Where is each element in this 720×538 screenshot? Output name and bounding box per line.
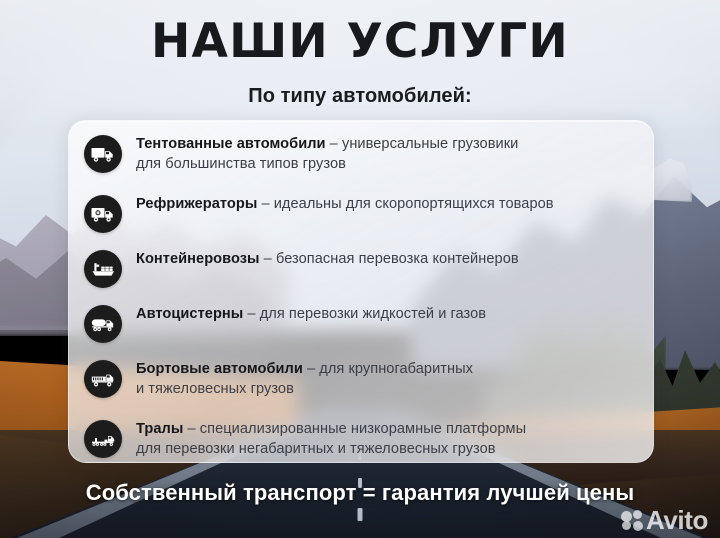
avito-watermark: Avito — [621, 507, 708, 533]
refrigerated-truck-icon — [84, 195, 122, 233]
service-desc: безопасная перевозка контейнеров — [276, 251, 519, 267]
list-item-text: Рефрижераторы – идеальны для скоропортящ… — [136, 193, 554, 214]
list-item: Тентованные автомобили – универсальные г… — [84, 133, 636, 190]
service-dash: – — [183, 421, 199, 437]
service-desc: для перевозки жидкостей и газов — [260, 306, 486, 322]
footer-tagline: Собственный транспорт = гарантия лучшей … — [0, 480, 720, 506]
service-dash: – — [326, 136, 342, 152]
service-dash: – — [257, 196, 273, 212]
lowboy-trailer-icon — [84, 420, 122, 458]
service-desc: для крупногабаритных — [319, 361, 473, 377]
list-item: Автоцистерны – для перевозки жидкостей и… — [84, 303, 636, 355]
service-desc-2: для большинства типов грузов — [136, 154, 518, 174]
tanker-truck-icon — [84, 305, 122, 343]
promo-banner: НАШИ УСЛУГИ По типу автомобилей: — [0, 0, 720, 538]
avito-dots-logo — [621, 510, 644, 531]
avito-wordmark: Avito — [646, 507, 708, 533]
list-item-text: Автоцистерны – для перевозки жидкостей и… — [136, 303, 486, 324]
service-desc: специализированные низкорамные платформы — [200, 421, 526, 437]
list-item: Тралы – специализированные низкорамные п… — [84, 418, 636, 475]
service-name: Контейнеровозы — [136, 251, 260, 267]
service-dash: – — [303, 361, 319, 377]
services-list: Тентованные автомобили – универсальные г… — [68, 120, 654, 463]
flatbed-truck-icon — [84, 360, 122, 398]
list-item: Рефрижераторы – идеальны для скоропортящ… — [84, 193, 636, 245]
service-name: Тралы — [136, 421, 183, 437]
service-dash: – — [260, 251, 276, 267]
list-item: Бортовые автомобили – для крупногабаритн… — [84, 358, 636, 415]
container-ship-icon — [84, 250, 122, 288]
service-desc: идеальны для скоропортящихся товаров — [274, 196, 554, 212]
service-desc: универсальные грузовики — [342, 136, 518, 152]
list-item: Контейнеровозы – безопасная перевозка ко… — [84, 248, 636, 300]
service-dash: – — [243, 306, 259, 322]
page-subtitle: По типу автомобилей: — [0, 85, 720, 108]
box-truck-icon — [84, 135, 122, 173]
service-desc-2: и тяжеловесных грузов — [136, 379, 473, 399]
list-item-text: Тралы – специализированные низкорамные п… — [136, 418, 526, 459]
service-name: Рефрижераторы — [136, 196, 257, 212]
list-item-text: Контейнеровозы – безопасная перевозка ко… — [136, 248, 519, 269]
list-item-text: Тентованные автомобили – универсальные г… — [136, 133, 518, 174]
service-name: Автоцистерны — [136, 306, 243, 322]
page-title: НАШИ УСЛУГИ — [0, 18, 720, 66]
service-name: Тентованные автомобили — [136, 136, 326, 152]
service-name: Бортовые автомобили — [136, 361, 303, 377]
list-item-text: Бортовые автомобили – для крупногабаритн… — [136, 358, 473, 399]
service-desc-2: для перевозки негабаритных и тяжеловесны… — [136, 439, 526, 459]
